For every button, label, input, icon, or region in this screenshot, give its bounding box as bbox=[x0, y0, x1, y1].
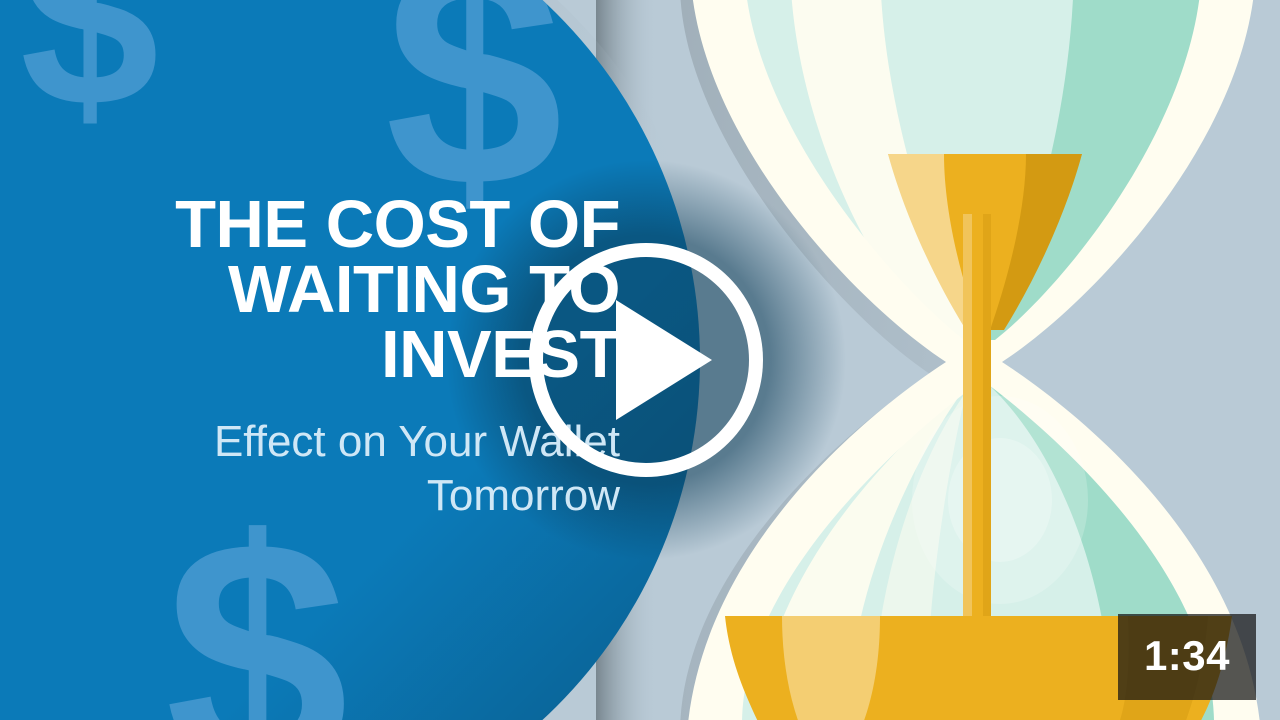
dollar-sign-top-left: $ bbox=[20, 0, 159, 158]
dollar-sign-bottom-left: $ bbox=[165, 471, 349, 720]
sand-stream-shade bbox=[983, 214, 991, 666]
play-triangle-icon bbox=[616, 300, 712, 420]
duration-badge: 1:34 bbox=[1118, 614, 1256, 700]
sand-bottom-highlight bbox=[782, 616, 880, 720]
play-button[interactable] bbox=[528, 242, 764, 478]
play-icon[interactable] bbox=[528, 242, 764, 478]
sand-stream-highlight bbox=[963, 214, 972, 666]
video-thumbnail[interactable]: $ $ $ THE COST OF WAITING TO INVEST Effe… bbox=[0, 0, 1280, 720]
